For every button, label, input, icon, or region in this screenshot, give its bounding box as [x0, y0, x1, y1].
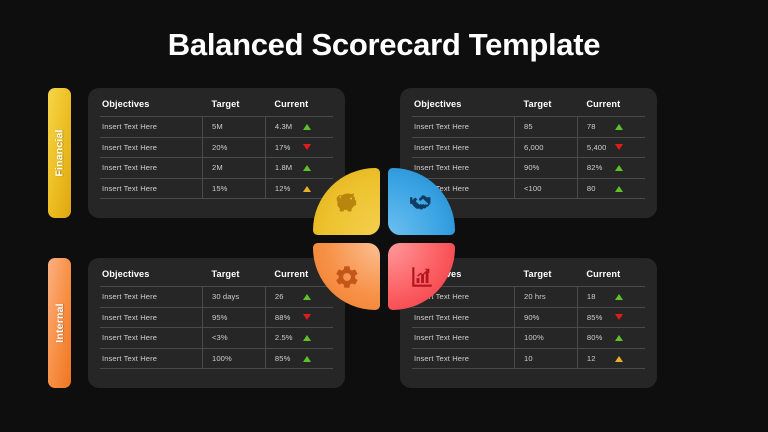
cell-objective: Insert Text Here: [100, 117, 203, 138]
cell-target: 85: [515, 117, 578, 138]
column-header-target: Target: [203, 98, 266, 117]
cell-current: 88%: [265, 307, 333, 328]
trend-down-icon: [615, 144, 623, 150]
cell-objective: Insert Text Here: [100, 348, 203, 369]
cell-current: 17%: [265, 137, 333, 158]
column-header-current: Current: [577, 98, 645, 117]
current-value: 85%: [275, 354, 302, 363]
current-value: 5,400: [587, 143, 614, 152]
cell-current: 85%: [577, 307, 645, 328]
table-row[interactable]: Insert Text Here 10 12: [412, 348, 645, 369]
table-header-row: Objectives Target Current: [100, 268, 333, 287]
cell-target: 5M: [203, 117, 266, 138]
page-title: Balanced Scorecard Template: [0, 27, 768, 63]
cell-target: 15%: [203, 178, 266, 199]
column-header-target: Target: [515, 268, 578, 287]
current-value: 82%: [587, 163, 614, 172]
cell-objective: Insert Text Here: [412, 328, 515, 349]
table-row[interactable]: Insert Text Here 2M 1.8M: [100, 158, 333, 179]
trend-up-icon: [615, 186, 623, 192]
trend-down-icon: [303, 144, 311, 150]
pinwheel-segment-customer[interactable]: [388, 168, 455, 235]
cell-objective: Insert Text Here: [100, 137, 203, 158]
bar-chart-icon: [409, 264, 435, 290]
table-header-row: Objectives Target Current: [412, 98, 645, 117]
current-value: 78: [587, 122, 614, 131]
cell-target: 2M: [203, 158, 266, 179]
cell-objective: Insert Text Here: [100, 287, 203, 308]
trend-up-icon: [303, 165, 311, 171]
trend-up-icon: [303, 124, 311, 130]
cell-current: 78: [577, 117, 645, 138]
tab-internal-label: Internal: [54, 303, 66, 343]
trend-up-icon: [615, 335, 623, 341]
cell-target: 100%: [515, 328, 578, 349]
table-internal: Objectives Target Current Insert Text He…: [100, 268, 333, 369]
cell-current: 2.5%: [265, 328, 333, 349]
cell-current: 18: [577, 287, 645, 308]
cell-current: 5,400: [577, 137, 645, 158]
cell-target: <100: [515, 178, 578, 199]
current-value: 88%: [275, 313, 302, 322]
cell-objective: Insert Text Here: [100, 158, 203, 179]
trend-up-icon: [303, 294, 311, 300]
trend-up-icon: [615, 294, 623, 300]
table-row[interactable]: Insert Text Here 30 days 26: [100, 287, 333, 308]
gear-icon: [334, 264, 360, 290]
trend-up-icon: [615, 124, 623, 130]
cell-target: 20%: [203, 137, 266, 158]
table-row[interactable]: Insert Text Here 6,000 5,400: [412, 137, 645, 158]
cell-target: 30 days: [203, 287, 266, 308]
cell-target: 10: [515, 348, 578, 369]
table-financial: Objectives Target Current Insert Text He…: [100, 98, 333, 199]
table-row[interactable]: Insert Text Here 15% 12%: [100, 178, 333, 199]
cell-objective: Insert Text Here: [412, 117, 515, 138]
trend-warning-icon: [615, 356, 623, 362]
tab-financial-label: Financial: [54, 129, 66, 176]
cell-current: 12: [577, 348, 645, 369]
cell-objective: Insert Text Here: [100, 178, 203, 199]
tab-financial[interactable]: Financial: [48, 88, 71, 218]
card-financial: Objectives Target Current Insert Text He…: [88, 88, 345, 218]
handshake-icon: [409, 189, 435, 215]
current-value: 1.8M: [275, 163, 302, 172]
table-row[interactable]: Insert Text Here 100% 80%: [412, 328, 645, 349]
cell-objective: Insert Text Here: [412, 137, 515, 158]
cell-target: 100%: [203, 348, 266, 369]
current-value: 17%: [275, 143, 302, 152]
cell-current: 80: [577, 178, 645, 199]
current-value: 80: [587, 184, 614, 193]
card-internal: Objectives Target Current Insert Text He…: [88, 258, 345, 388]
cell-target: 90%: [515, 307, 578, 328]
current-value: 4.3M: [275, 122, 302, 131]
table-row[interactable]: Insert Text Here 95% 88%: [100, 307, 333, 328]
table-row[interactable]: Insert Text Here 5M 4.3M: [100, 117, 333, 138]
table-row[interactable]: Insert Text Here <3% 2.5%: [100, 328, 333, 349]
cell-objective: Insert Text Here: [100, 307, 203, 328]
cell-current: 82%: [577, 158, 645, 179]
trend-up-icon: [303, 356, 311, 362]
cell-target: 90%: [515, 158, 578, 179]
column-header-current: Current: [577, 268, 645, 287]
table-row[interactable]: Insert Text Here 85 78: [412, 117, 645, 138]
table-header-row: Objectives Target Current: [100, 98, 333, 117]
current-value: 18: [587, 292, 614, 301]
cell-current: 85%: [265, 348, 333, 369]
cell-current: 4.3M: [265, 117, 333, 138]
column-header-objectives: Objectives: [412, 98, 515, 117]
current-value: 12%: [275, 184, 302, 193]
cell-target: <3%: [203, 328, 266, 349]
pinwheel-segment-financial[interactable]: [313, 168, 380, 235]
trend-down-icon: [303, 314, 311, 320]
tab-internal[interactable]: Internal: [48, 258, 71, 388]
pinwheel-segment-growth[interactable]: [388, 243, 455, 310]
column-header-current: Current: [265, 98, 333, 117]
pinwheel-segment-internal[interactable]: [313, 243, 380, 310]
column-header-target: Target: [515, 98, 578, 117]
current-value: 26: [275, 292, 302, 301]
trend-down-icon: [615, 314, 623, 320]
table-row[interactable]: Insert Text Here 20% 17%: [100, 137, 333, 158]
column-header-target: Target: [203, 268, 266, 287]
trend-warning-icon: [303, 186, 311, 192]
trend-up-icon: [615, 165, 623, 171]
current-value: 2.5%: [275, 333, 302, 342]
cell-target: 20 hrs: [515, 287, 578, 308]
current-value: 85%: [587, 313, 614, 322]
column-header-objectives: Objectives: [100, 268, 203, 287]
cell-objective: Insert Text Here: [100, 328, 203, 349]
cell-objective: Insert Text Here: [412, 348, 515, 369]
trend-up-icon: [303, 335, 311, 341]
column-header-objectives: Objectives: [100, 98, 203, 117]
slide-root: Balanced Scorecard Template Financial Ob…: [0, 0, 768, 432]
piggy-bank-icon: [334, 189, 360, 215]
center-pinwheel: [313, 168, 455, 310]
cell-target: 6,000: [515, 137, 578, 158]
current-value: 12: [587, 354, 614, 363]
table-row[interactable]: Insert Text Here 90% 85%: [412, 307, 645, 328]
current-value: 80%: [587, 333, 614, 342]
cell-target: 95%: [203, 307, 266, 328]
table-row[interactable]: Insert Text Here 100% 85%: [100, 348, 333, 369]
cell-current: 80%: [577, 328, 645, 349]
cell-objective: Insert Text Here: [412, 307, 515, 328]
